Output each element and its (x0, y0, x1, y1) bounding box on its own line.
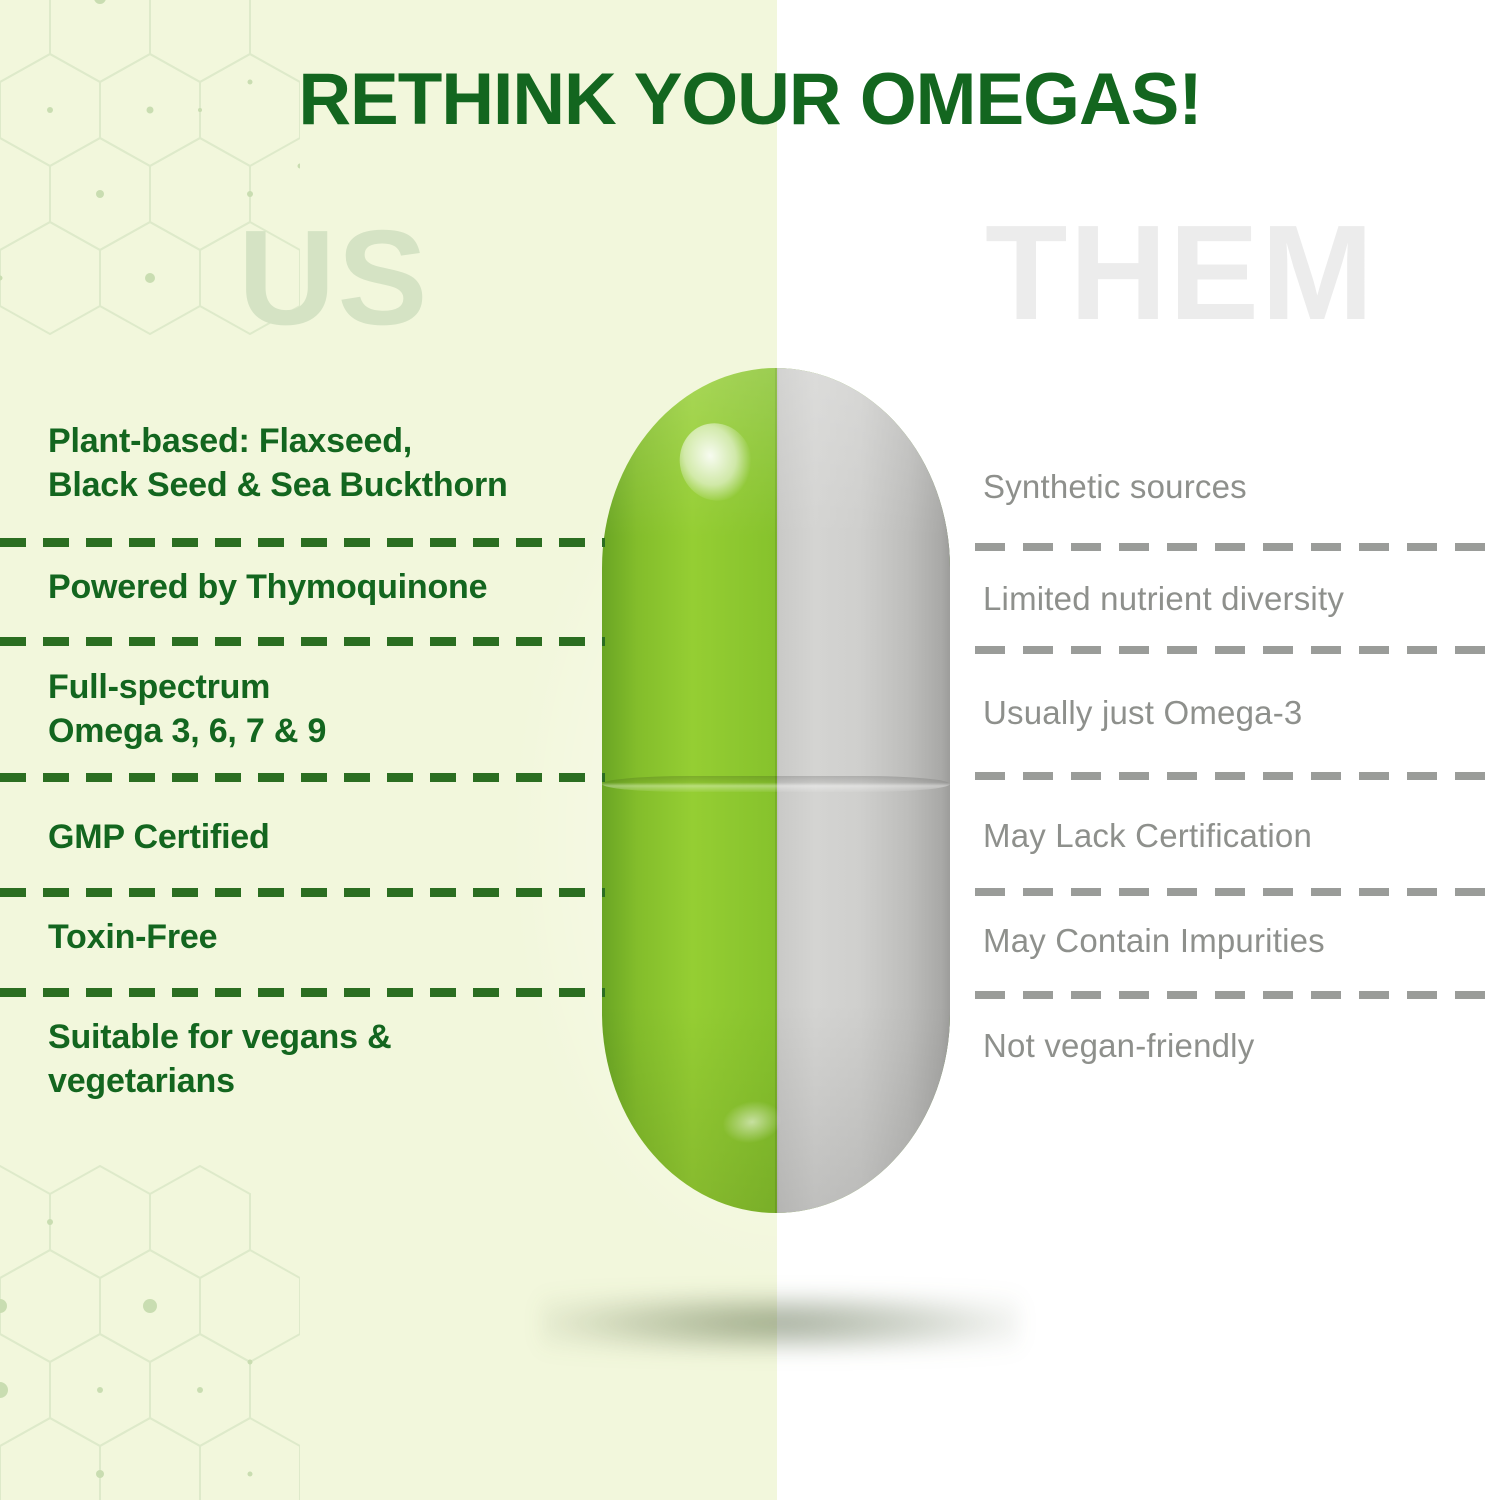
list-item: GMP Certified (48, 816, 618, 860)
divider (975, 543, 1500, 551)
divider (975, 888, 1500, 896)
them-item-line1: Limited nutrient diversity (983, 578, 1500, 620)
list-item: Suitable for vegans & vegetarians (48, 1016, 618, 1103)
us-item-line2: Black Seed & Sea Buckthorn (48, 464, 618, 508)
them-drawbacks-list: Synthetic sources Limited nutrient diver… (940, 0, 1500, 1500)
us-item-line2: Omega 3, 6, 7 & 9 (48, 710, 618, 754)
list-item: Limited nutrient diversity (983, 578, 1500, 620)
list-item: May Lack Certification (983, 815, 1500, 857)
divider (975, 772, 1500, 780)
us-item-line1: Suitable for vegans & (48, 1016, 618, 1060)
list-item: Plant-based: Flaxseed, Black Seed & Sea … (48, 420, 618, 507)
us-item-line2: vegetarians (48, 1060, 618, 1104)
list-item: Not vegan-friendly (983, 1025, 1500, 1067)
list-item: Toxin-Free (48, 916, 618, 960)
us-item-line1: Toxin-Free (48, 916, 618, 960)
them-item-line1: Synthetic sources (983, 466, 1500, 508)
them-item-line1: May Contain Impurities (983, 920, 1500, 962)
capsule-gray-half (777, 368, 950, 1213)
them-item-line1: Not vegan-friendly (983, 1025, 1500, 1067)
them-item-line1: Usually just Omega-3 (983, 692, 1500, 734)
list-item: Usually just Omega-3 (983, 692, 1500, 734)
divider (0, 538, 605, 547)
list-item: Synthetic sources (983, 466, 1500, 508)
divider (0, 637, 605, 646)
us-item-line1: Plant-based: Flaxseed, (48, 420, 618, 464)
divider (975, 646, 1500, 654)
them-item-line1: May Lack Certification (983, 815, 1500, 857)
comparison-infographic: RETHINK YOUR OMEGAS! US THEM Plant-based… (0, 0, 1500, 1500)
divider (0, 888, 605, 897)
divider (975, 991, 1500, 999)
us-item-line1: Full-spectrum (48, 666, 618, 710)
us-item-line1: Powered by Thymoquinone (48, 566, 618, 610)
divider (0, 773, 605, 782)
page-title: RETHINK YOUR OMEGAS! (0, 58, 1500, 141)
list-item: Full-spectrum Omega 3, 6, 7 & 9 (48, 666, 618, 753)
split-capsule-image (602, 368, 950, 1213)
list-item: Powered by Thymoquinone (48, 566, 618, 610)
capsule-body (602, 368, 950, 1213)
us-item-line1: GMP Certified (48, 816, 618, 860)
divider (0, 988, 605, 997)
us-benefits-list: Plant-based: Flaxseed, Black Seed & Sea … (0, 0, 640, 1500)
list-item: May Contain Impurities (983, 920, 1500, 962)
